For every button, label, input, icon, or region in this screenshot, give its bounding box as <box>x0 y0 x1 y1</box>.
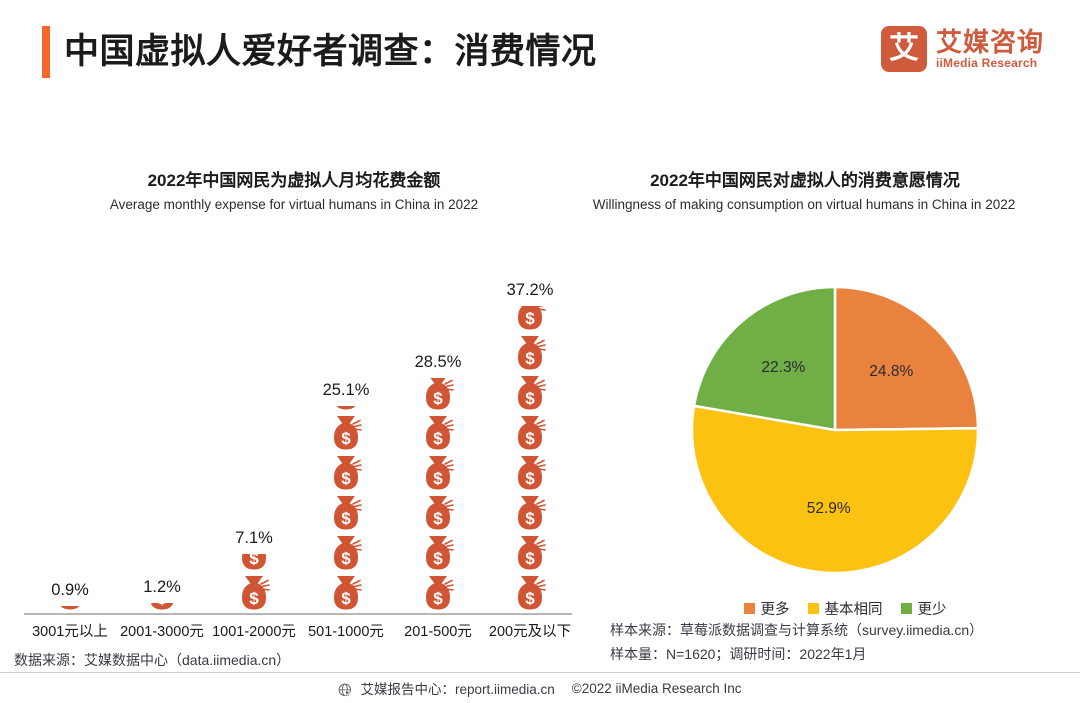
money-bag-icon: $ <box>507 373 553 413</box>
money-bag-icon: $ <box>47 606 93 613</box>
bar-value-label: 25.1% <box>304 381 388 400</box>
money-bag-icon: $ <box>139 603 185 613</box>
left-chart-title: 2022年中国网民为虚拟人月均花费金额 <box>14 166 574 191</box>
money-bag-icon: $ <box>507 306 553 333</box>
money-bag-icon: $ <box>507 573 553 613</box>
page-header: 中国虚拟人爱好者调查：消费情况 艾 艾媒咨询 iiMedia Research <box>0 0 1080 108</box>
svg-text:$: $ <box>525 509 535 528</box>
footer-divider <box>0 672 1080 673</box>
logo-text: 艾媒咨询 iiMedia Research <box>936 28 1044 71</box>
legend-label: 基本相同 <box>825 598 883 619</box>
svg-text:$: $ <box>525 389 535 408</box>
svg-text:$: $ <box>341 549 351 568</box>
bar-value-label: 1.2% <box>120 578 204 597</box>
bar-category-label: 3001元以上 <box>20 620 120 641</box>
legend-swatch-icon <box>901 603 912 614</box>
consumption-willingness-pie-chart <box>690 285 980 575</box>
bar-column: $ $ $ $ $ $ <box>304 406 388 613</box>
page-footer: 艾媒报告中心：report.iimedia.cn ©2022 iiMedia R… <box>0 678 1080 698</box>
bar-column: $ $ $ $ $ $ <box>396 378 480 613</box>
legend-swatch-icon <box>808 603 819 614</box>
legend-item[interactable]: 更多 <box>744 598 790 619</box>
svg-text:$: $ <box>433 429 443 448</box>
right-chart-source-line-2: 样本量：N=1620；调研时间：2022年1月 <box>610 644 866 664</box>
bar-category-label: 2001-3000元 <box>112 620 212 641</box>
money-bag-icon: $ <box>415 453 461 493</box>
bar-value-label: 7.1% <box>212 529 296 548</box>
svg-text:$: $ <box>433 589 443 608</box>
svg-text:$: $ <box>65 606 75 608</box>
left-chart-source: 数据来源：艾媒数据中心（data.iimedia.cn） <box>14 650 290 670</box>
right-chart-subtitle: Willingness of making consumption on vir… <box>534 197 1074 212</box>
legend-label: 更少 <box>918 598 947 619</box>
svg-text:$: $ <box>341 406 351 408</box>
logo-mark-icon: 艾 <box>881 26 927 72</box>
money-bag-icon: $ <box>507 493 553 533</box>
svg-text:$: $ <box>525 349 535 368</box>
money-bag-stack: $ <box>47 606 93 613</box>
left-chart-subtitle: Average monthly expense for virtual huma… <box>14 197 574 212</box>
svg-text:$: $ <box>249 589 259 608</box>
money-bag-stack: $ <box>139 603 185 613</box>
legend-item[interactable]: 基本相同 <box>808 598 883 619</box>
svg-text:$: $ <box>525 429 535 448</box>
bar-value-label: 28.5% <box>396 353 480 372</box>
logo-name-en: iiMedia Research <box>936 56 1044 71</box>
svg-text:$: $ <box>341 469 351 488</box>
pie-slice <box>835 287 978 430</box>
money-bag-icon: $ <box>231 554 277 573</box>
money-bag-icon: $ <box>415 413 461 453</box>
svg-text:$: $ <box>341 429 351 448</box>
money-bag-icon: $ <box>507 453 553 493</box>
title-accent-bar <box>42 26 50 78</box>
money-bag-stack: $ $ $ $ $ $ <box>323 406 369 613</box>
footer-copyright: ©2022 iiMedia Research Inc <box>572 681 742 696</box>
bar-category-label: 200元及以下 <box>480 620 580 641</box>
bar-value-label: 37.2% <box>488 281 572 300</box>
chart-baseline <box>24 613 572 615</box>
money-bag-icon: $ <box>323 573 369 613</box>
pie-value-label: 52.9% <box>801 500 857 518</box>
bar-chart-x-axis-labels: 3001元以上2001-3000元1001-2000元501-1000元201-… <box>14 620 574 644</box>
svg-text:$: $ <box>249 554 259 568</box>
money-bag-icon: $ <box>323 413 369 453</box>
money-bag-icon: $ <box>415 378 461 413</box>
legend-label: 更多 <box>761 598 790 619</box>
svg-text:$: $ <box>433 509 443 528</box>
svg-text:$: $ <box>525 469 535 488</box>
right-chart-title: 2022年中国网民对虚拟人的消费意愿情况 <box>540 166 1070 191</box>
svg-text:$: $ <box>157 603 167 608</box>
pie-value-label: 24.8% <box>863 363 919 381</box>
pie-value-label: 22.3% <box>755 359 811 377</box>
pie-svg <box>690 285 980 575</box>
money-bag-icon: $ <box>415 573 461 613</box>
brand-logo: 艾 艾媒咨询 iiMedia Research <box>881 26 1044 72</box>
bar-category-label: 201-500元 <box>388 620 488 641</box>
monthly-expense-pictogram-chart: $ 0.9% $ 1.2% $ $ 7.1% $ $ $ $ $ $ 25.1%… <box>14 250 574 615</box>
legend-item[interactable]: 更少 <box>901 598 947 619</box>
svg-text:$: $ <box>525 589 535 608</box>
money-bag-icon: $ <box>323 453 369 493</box>
svg-text:$: $ <box>341 589 351 608</box>
globe-cursor-icon <box>338 683 353 698</box>
bar-value-label: 0.9% <box>28 581 112 600</box>
money-bag-icon: $ <box>507 413 553 453</box>
money-bag-icon: $ <box>323 533 369 573</box>
svg-text:$: $ <box>433 469 443 488</box>
money-bag-icon: $ <box>323 493 369 533</box>
pie-legend: 更多基本相同更少 <box>610 598 1080 619</box>
bar-column: $ <box>28 606 112 613</box>
money-bag-icon: $ <box>507 533 553 573</box>
money-bag-stack: $ $ $ $ $ $ $ $ <box>507 306 553 613</box>
svg-text:$: $ <box>525 549 535 568</box>
svg-text:$: $ <box>433 549 443 568</box>
page-title: 中国虚拟人爱好者调查：消费情况 <box>64 28 597 76</box>
legend-swatch-icon <box>744 603 755 614</box>
footer-report-center: 艾媒报告中心：report.iimedia.cn <box>360 678 554 698</box>
logo-name-cn: 艾媒咨询 <box>936 28 1044 56</box>
money-bag-stack: $ $ $ $ $ $ <box>415 378 461 613</box>
money-bag-icon: $ <box>323 406 369 413</box>
svg-text:$: $ <box>525 309 535 328</box>
bar-column: $ $ $ $ $ $ $ $ <box>488 306 572 613</box>
money-bag-stack: $ $ <box>231 554 277 613</box>
bar-category-label: 501-1000元 <box>296 620 396 641</box>
money-bag-icon: $ <box>507 333 553 373</box>
bar-category-label: 1001-2000元 <box>204 620 304 641</box>
svg-text:$: $ <box>341 509 351 528</box>
right-chart-source-line-1: 样本来源：草莓派数据调查与计算系统（survey.iimedia.cn） <box>610 620 983 640</box>
money-bag-icon: $ <box>415 493 461 533</box>
svg-text:$: $ <box>433 389 443 408</box>
money-bag-icon: $ <box>231 573 277 613</box>
money-bag-icon: $ <box>415 533 461 573</box>
bar-column: $ $ <box>212 554 296 613</box>
bar-column: $ <box>120 603 204 613</box>
